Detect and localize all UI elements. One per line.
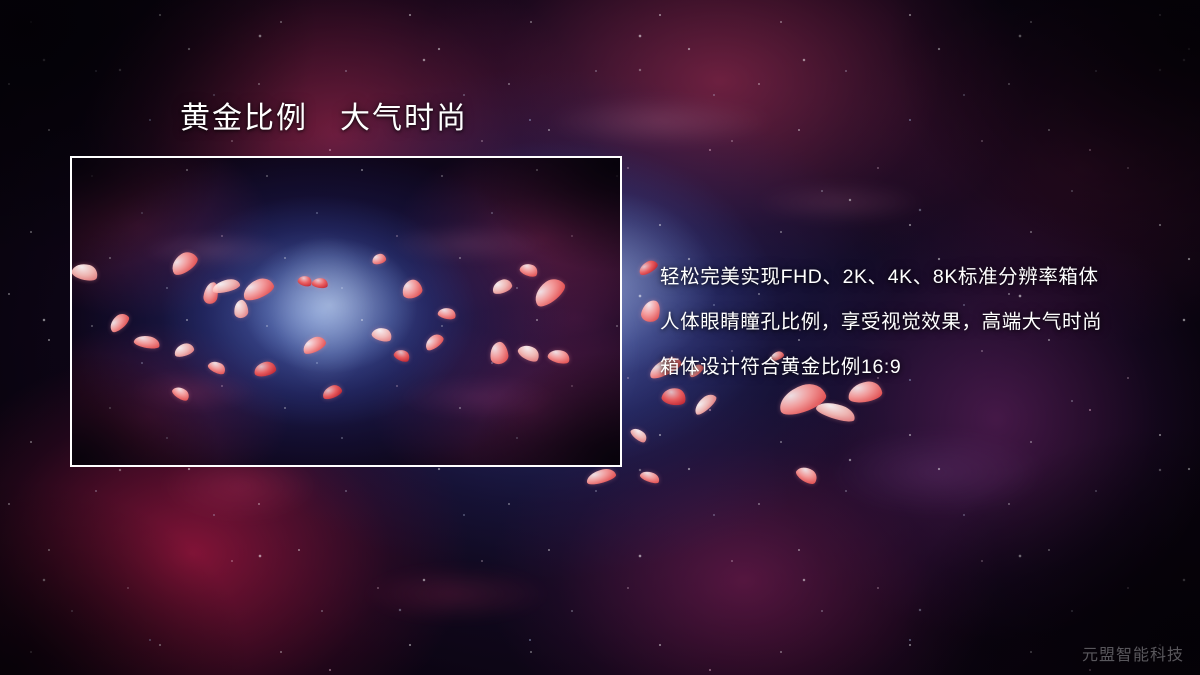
body-line: 人体眼睛瞳孔比例，享受视觉效果，高端大气时尚 bbox=[660, 300, 1180, 345]
slide-title: 黄金比例 大气时尚 bbox=[180, 101, 468, 137]
framed-image-panel bbox=[70, 156, 622, 467]
watermark: 元盟智能科技 bbox=[1082, 641, 1184, 665]
body-line: 箱体设计符合黄金比例16:9 bbox=[660, 345, 1180, 390]
body-text-block: 轻松完美实现FHD、2K、4K、8K标准分辨率箱体 人体眼睛瞳孔比例，享受视觉效… bbox=[660, 255, 1180, 390]
presentation-slide: 黄金比例 大气时尚 bbox=[0, 0, 1200, 675]
body-line: 轻松完美实现FHD、2K、4K、8K标准分辨率箱体 bbox=[660, 255, 1180, 300]
panel-vignette bbox=[72, 158, 620, 465]
